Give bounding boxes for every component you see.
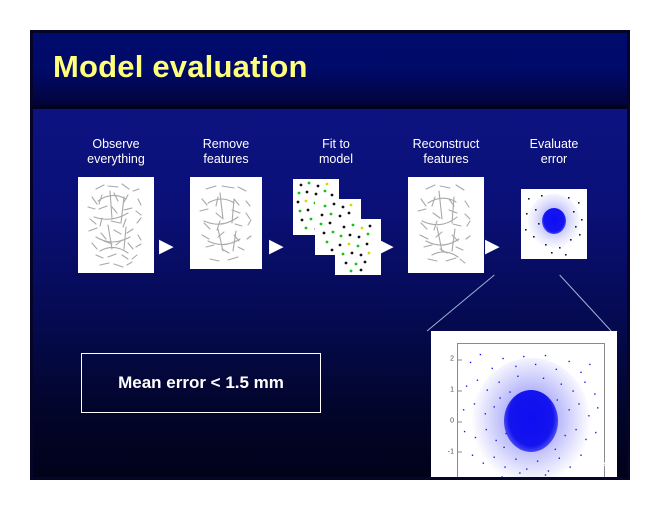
pipeline-step-remove: Remove features	[171, 137, 281, 269]
speckle-icon	[335, 219, 381, 275]
pipeline-row: Observe everything	[33, 109, 627, 309]
scatter-points	[458, 344, 604, 480]
y-axis-tick: 0	[450, 418, 458, 425]
pipeline-step-fit: Fit to model	[281, 137, 391, 279]
y-axis-tick: -1	[448, 448, 458, 455]
pipeline-step-evaluate: Evaluate error	[499, 137, 609, 259]
scatter-thumb	[521, 189, 587, 259]
slide-body: Observe everything	[33, 109, 627, 477]
sketch-reduced-features-icon	[190, 177, 262, 269]
y-axis-tick: 2	[450, 356, 458, 363]
scatter-outliers	[521, 189, 587, 259]
thumbnail-observe-everything	[78, 177, 154, 273]
error-scatter-plot[interactable]: 2 1 0 -1 -2 -2 -1 0 1	[431, 331, 617, 480]
pipeline-step-label: Fit to model	[281, 137, 391, 167]
thumbnail-reconstructed-features	[408, 177, 484, 273]
pipeline-step-label: Reconstruct features	[391, 137, 501, 167]
thumbnail-remove-features	[190, 177, 262, 269]
sketch-reconstructed-icon	[408, 177, 484, 273]
mean-error-text: Mean error < 1.5 mm	[118, 373, 284, 393]
cascade-card-3	[335, 219, 381, 275]
mean-error-callout: Mean error < 1.5 mm	[81, 353, 321, 413]
arrow-right-icon: ▶	[485, 237, 500, 256]
thumbnail-error-scatter[interactable]	[521, 189, 587, 259]
plot-frame: 2 1 0 -1 -2 -2 -1 0 1	[457, 343, 605, 480]
pipeline-step-label: Remove features	[171, 137, 281, 167]
y-axis-tick: 1	[450, 387, 458, 394]
pipeline-step-label: Evaluate error	[499, 137, 609, 167]
presentation-slide: Model evaluation Observe everything	[30, 30, 630, 480]
y-axis-tick: -2	[448, 479, 458, 480]
thumbnail-cascade-model-fits	[293, 179, 379, 279]
sketch-all-features-icon	[78, 177, 154, 273]
page-title: Model evaluation	[53, 49, 308, 85]
pipeline-step-observe: Observe everything	[61, 137, 171, 273]
slide-number: 45	[603, 456, 617, 471]
scatter-outlier-points	[458, 344, 604, 480]
pipeline-step-label: Observe everything	[61, 137, 171, 167]
